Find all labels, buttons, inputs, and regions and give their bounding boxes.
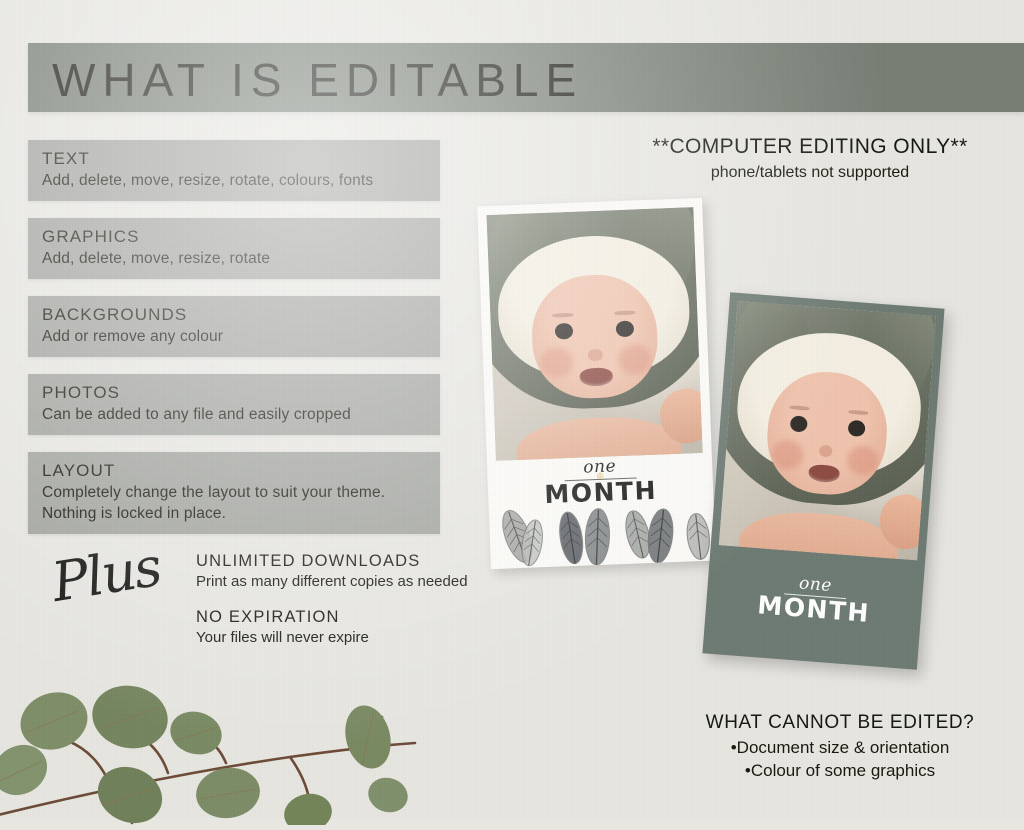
feature-title: BACKGROUNDS — [42, 304, 426, 326]
perk-desc: Print as many different copies as needed — [196, 572, 526, 592]
caption-script-one: one — [798, 573, 832, 595]
baby-portrait-illustration — [486, 207, 702, 461]
cannot-edit-item: •Document size & orientation — [660, 736, 1020, 759]
feature-desc-line2: Nothing is locked in place. — [42, 503, 426, 524]
feature-block-graphics: GRAPHICS Add, delete, move, resize, rota… — [28, 218, 440, 279]
eucalyptus-branch-graphic — [0, 645, 420, 825]
feature-desc: Completely change the layout to suit you… — [42, 482, 426, 503]
feature-block-backgrounds: BACKGROUNDS Add or remove any colour — [28, 296, 440, 357]
plus-script-word: Plus — [48, 539, 164, 611]
cannot-edit-title: WHAT CANNOT BE EDITED? — [660, 710, 1020, 736]
feature-desc: Can be added to any file and easily crop… — [42, 404, 426, 425]
cannot-edit-item: •Colour of some graphics — [660, 759, 1020, 782]
photo-card-white[interactable]: one ♔ MONTH — [477, 198, 716, 569]
notice-heading: **COMPUTER EDITING ONLY** — [600, 133, 1020, 161]
feature-block-photos: PHOTOS Can be added to any file and easi… — [28, 374, 440, 435]
photo-card-sage[interactable]: one MONTH — [702, 292, 944, 669]
baby-portrait-illustration — [719, 301, 936, 561]
feature-block-text: TEXT Add, delete, move, resize, rotate, … — [28, 140, 440, 201]
feature-title: PHOTOS — [42, 382, 426, 404]
feature-block-layout: LAYOUT Completely change the layout to s… — [28, 452, 440, 534]
perk-title: UNLIMITED DOWNLOADS — [196, 550, 526, 572]
tropical-leaves-graphic — [489, 499, 716, 570]
feature-title: TEXT — [42, 148, 426, 170]
feature-desc: Add, delete, move, resize, rotate, colou… — [42, 170, 426, 191]
crown-icon: ♔ — [596, 472, 604, 481]
page-title: WHAT IS EDITABLE — [52, 50, 583, 110]
feature-title: LAYOUT — [42, 460, 426, 482]
feature-desc: Add or remove any colour — [42, 326, 426, 347]
notice-subtext: phone/tablets not supported — [600, 161, 1020, 185]
baby-photo — [719, 301, 936, 561]
card-caption: one MONTH — [711, 545, 917, 660]
baby-photo — [486, 207, 702, 461]
feature-desc: Add, delete, move, resize, rotate — [42, 248, 426, 269]
perk-unlimited-downloads: UNLIMITED DOWNLOADS Print as many differ… — [196, 550, 526, 592]
perk-title: NO EXPIRATION — [196, 606, 526, 628]
editable-features-list: TEXT Add, delete, move, resize, rotate, … — [28, 140, 440, 551]
computer-editing-notice: **COMPUTER EDITING ONLY** phone/tablets … — [600, 133, 1020, 185]
perk-no-expiration: NO EXPIRATION Your files will never expi… — [196, 606, 526, 648]
card-caption: one ♔ MONTH — [496, 453, 705, 507]
cannot-be-edited-section: WHAT CANNOT BE EDITED? •Document size & … — [660, 710, 1020, 782]
feature-title: GRAPHICS — [42, 226, 426, 248]
